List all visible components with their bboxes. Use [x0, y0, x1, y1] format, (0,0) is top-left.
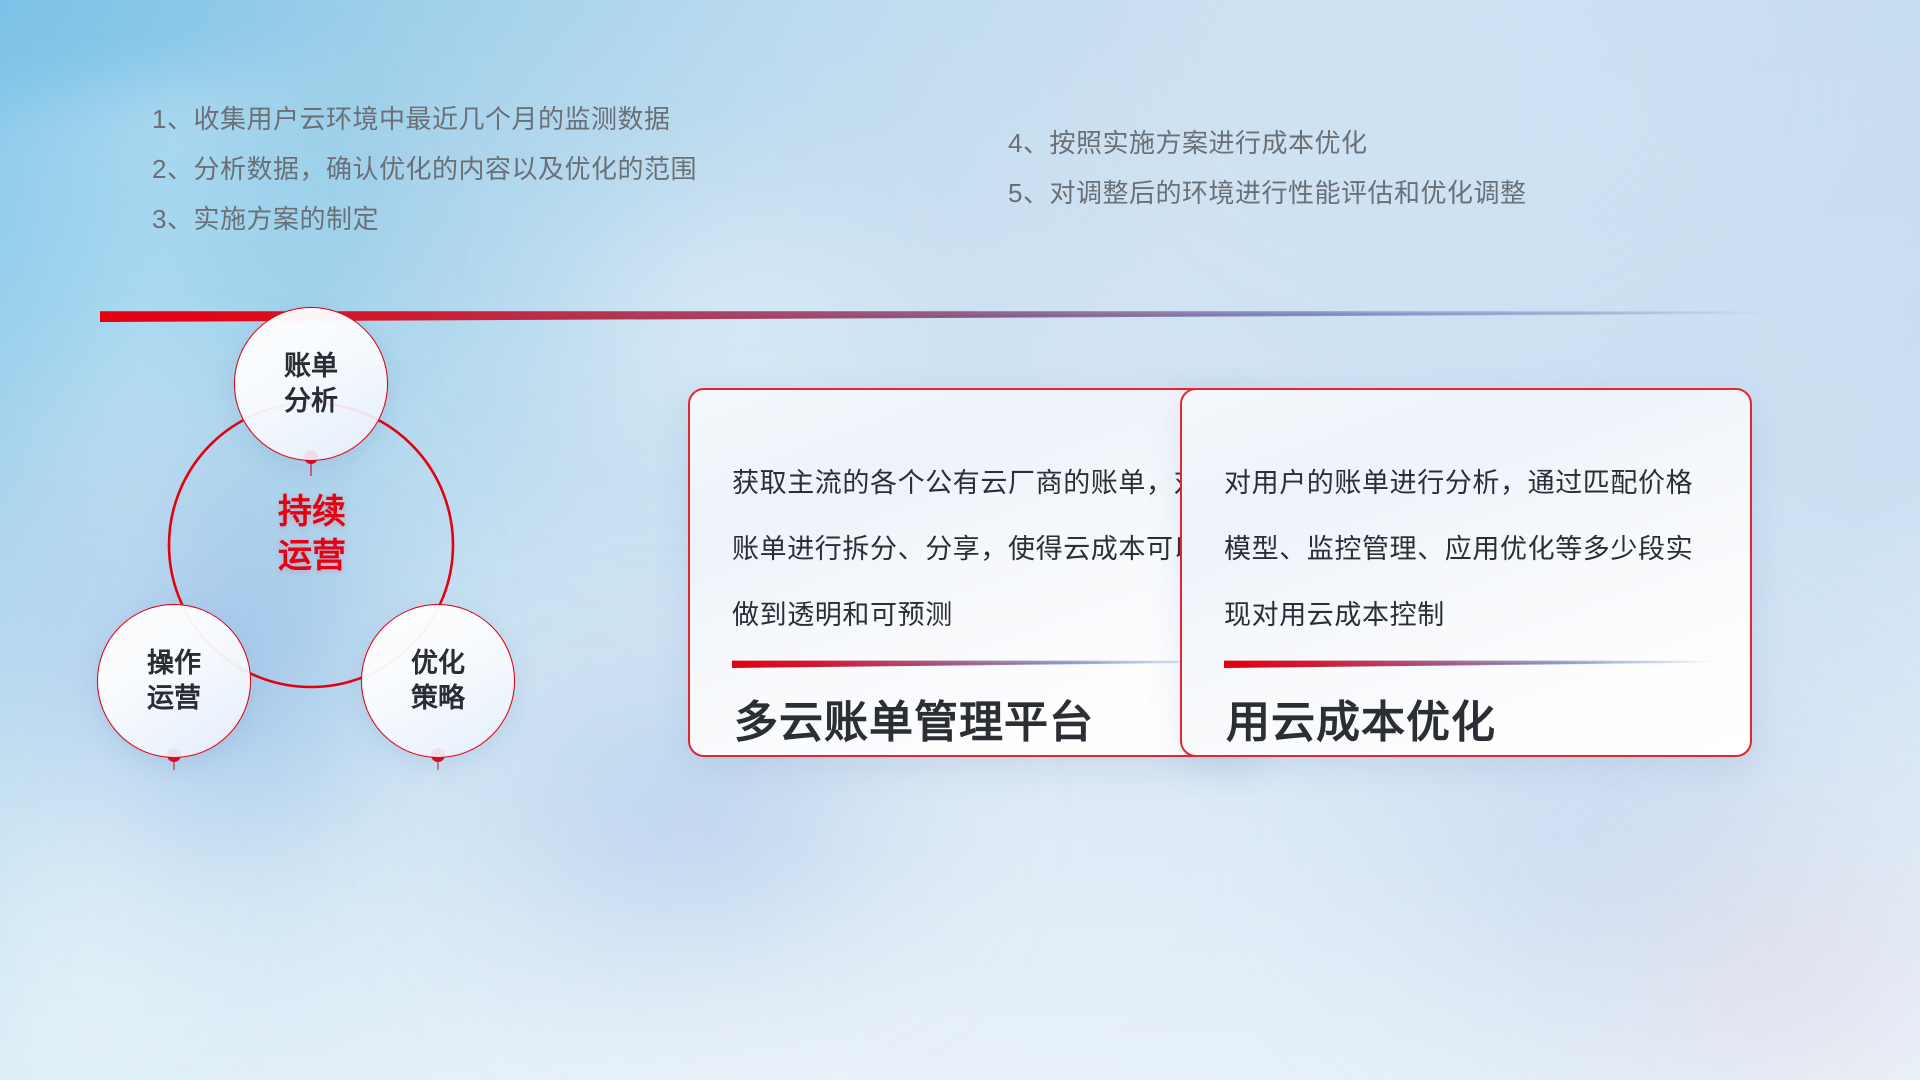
card-title: 多云账单管理平台: [734, 686, 1094, 750]
bubble-bill-analysis[interactable]: 账单 分析: [235, 308, 387, 460]
step-item: 4、按照实施方案进行成本优化: [1008, 118, 1526, 168]
step-item: 1、收集用户云环境中最近几个月的监测数据: [152, 94, 697, 144]
center-label-line2: 运营: [238, 534, 386, 578]
card-divider: [1224, 658, 1716, 668]
card-body-text: 对用户的账单进行分析，通过匹配价格模型、监控管理、应用优化等多少段实现对用云成本…: [1224, 450, 1714, 648]
card-multicloud-billing-platform[interactable]: 获取主流的各个公有云厂商的账单，对账单进行拆分、分享，使得云成本可以做到透明和可…: [688, 388, 1260, 757]
bubble-label-line1: 账单: [284, 349, 338, 384]
bubble-operations[interactable]: 操作 运营: [98, 605, 250, 757]
bubble-optimization-strategy[interactable]: 优化 策略: [362, 605, 514, 757]
step-item: 2、分析数据，确认优化的内容以及优化的范围: [152, 144, 697, 194]
bubble-label-line1: 优化: [411, 646, 465, 681]
bubble-label-line2: 分析: [284, 384, 338, 419]
diagram-center-label: 持续 运营: [238, 490, 386, 578]
step-item: 5、对调整后的环境进行性能评估和优化调整: [1008, 168, 1526, 218]
background-blob-corner-right: [1500, 760, 1920, 1080]
steps-list-left: 1、收集用户云环境中最近几个月的监测数据 2、分析数据，确认优化的内容以及优化的…: [152, 94, 697, 244]
bubble-label-line2: 策略: [411, 681, 465, 716]
bubble-label-line2: 运营: [147, 681, 201, 716]
card-cloud-cost-optimization[interactable]: 对用户的账单进行分析，通过匹配价格模型、监控管理、应用优化等多少段实现对用云成本…: [1180, 388, 1752, 757]
card-title: 用云成本优化: [1226, 686, 1496, 750]
bubble-label-line1: 操作: [147, 646, 201, 681]
card-body-text: 获取主流的各个公有云厂商的账单，对账单进行拆分、分享，使得云成本可以做到透明和可…: [732, 450, 1222, 648]
card-divider: [732, 658, 1224, 668]
step-item: 3、实施方案的制定: [152, 194, 697, 244]
continuous-operations-diagram: 账单 分析 操作 运营 优化 策略 持续 运营: [80, 300, 600, 770]
center-label-line1: 持续: [238, 490, 386, 534]
steps-list-right: 4、按照实施方案进行成本优化 5、对调整后的环境进行性能评估和优化调整: [1008, 118, 1526, 218]
